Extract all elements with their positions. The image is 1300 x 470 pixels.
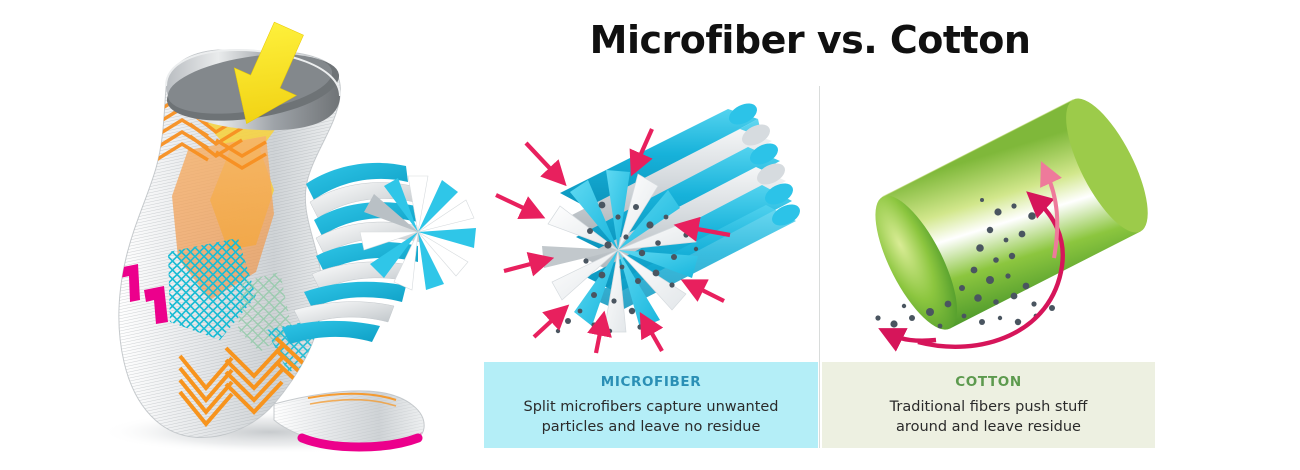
arrow-left	[496, 195, 534, 213]
cotton-body-line1: Traditional fibers push stuff	[890, 399, 1088, 415]
microfiber-body: Split microfibers capture unwanted parti…	[484, 397, 818, 437]
sock-illustration	[60, 0, 480, 470]
arrow-bottom	[596, 323, 602, 353]
microfiber-body-line2: particles and leave no residue	[542, 419, 761, 435]
cotton-caption-panel: COTTON Traditional fibers push stuff aro…	[822, 362, 1155, 448]
cotton-fiber-cylinder	[859, 88, 1163, 341]
arrow-bottom-left	[534, 313, 560, 337]
microfiber-illustration	[490, 85, 820, 355]
microfiber-body-line1: Split microfibers capture unwanted	[523, 399, 778, 415]
microfiber-heading: MICROFIBER	[484, 374, 818, 390]
arrow-right	[692, 285, 724, 301]
cotton-body: Traditional fibers push stuff around and…	[822, 397, 1155, 437]
cotton-illustration	[840, 90, 1160, 355]
page-title: Microfiber vs. Cotton	[460, 18, 1160, 62]
cotton-heading: COTTON	[822, 374, 1155, 390]
infographic-canvas: Microfiber vs. Cotton	[0, 0, 1300, 470]
arrow-lower-left	[504, 261, 542, 271]
arrow-top-left	[526, 143, 558, 177]
arrow-bottom-right	[646, 323, 662, 351]
microfiber-caption-panel: MICROFIBER Split microfibers capture unw…	[484, 362, 818, 448]
arrow-curved-sweep-left	[890, 334, 936, 341]
cotton-body-line2: around and leave residue	[896, 419, 1081, 435]
